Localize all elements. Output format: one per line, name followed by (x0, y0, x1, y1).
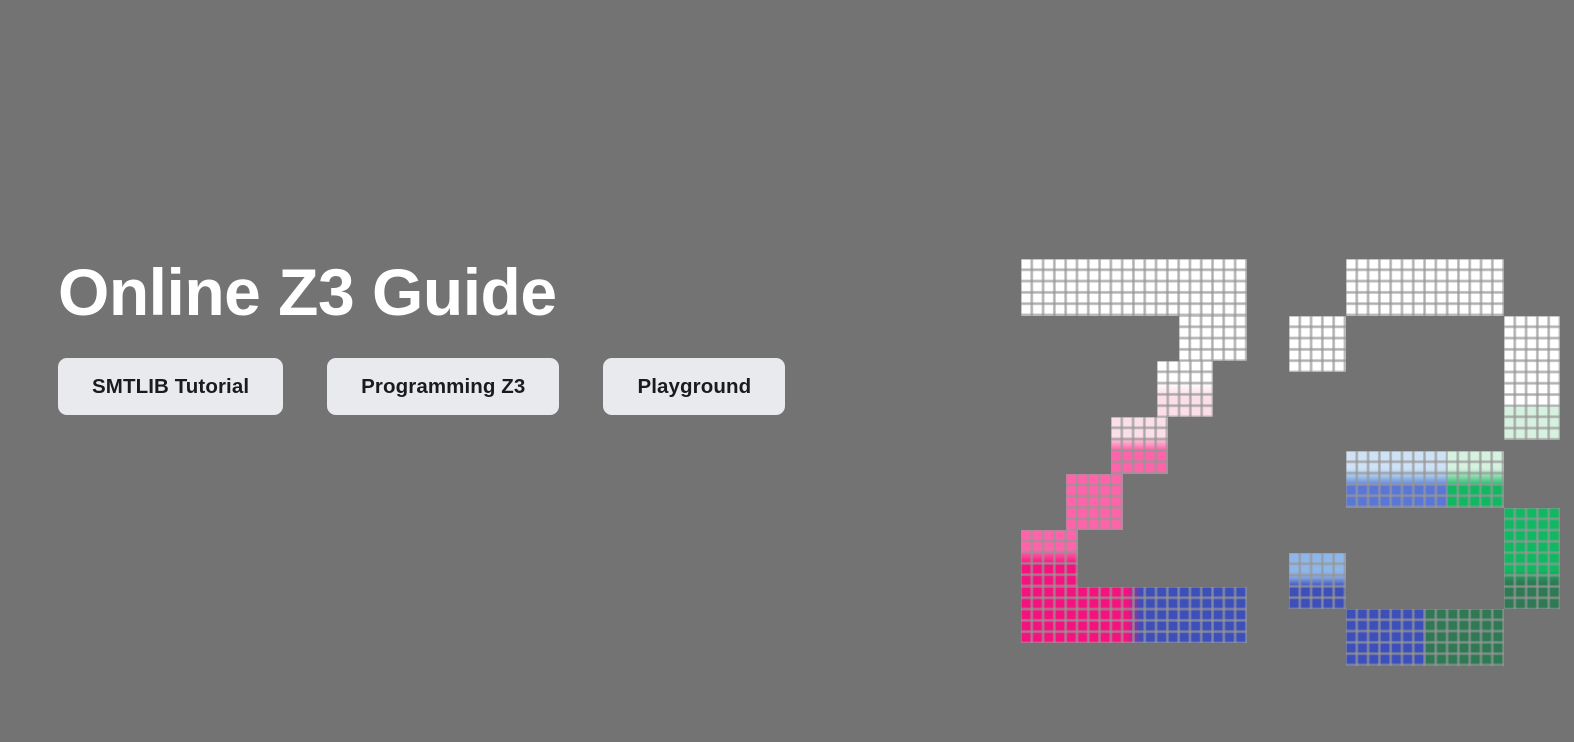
three-lower-right (1504, 508, 1561, 610)
z3-pixel-logo (1021, 259, 1521, 584)
z-top-bar (1021, 259, 1247, 316)
z-bottom-bar (1021, 587, 1247, 644)
z-top-right-stub (1179, 316, 1247, 361)
playground-button[interactable]: Playground (603, 358, 785, 415)
z-step-1 (1157, 361, 1214, 418)
smtlib-tutorial-button[interactable]: SMTLIB Tutorial (58, 358, 283, 415)
z-step-2 (1111, 417, 1168, 474)
cta-button-row: SMTLIB Tutorial Programming Z3 Playgroun… (58, 358, 958, 415)
page-title: Online Z3 Guide (58, 258, 958, 327)
z-step-3 (1066, 474, 1123, 531)
three-bottom-bar-right (1425, 609, 1504, 666)
hero-section: Online Z3 Guide SMTLIB Tutorial Programm… (0, 0, 1574, 742)
three-top-left-stub (1289, 316, 1346, 373)
z-step-4 (1021, 530, 1078, 587)
three-lower-left-stub (1289, 553, 1346, 610)
three-top-bar (1346, 259, 1504, 316)
hero-text-column: Online Z3 Guide SMTLIB Tutorial Programm… (58, 258, 958, 415)
three-bottom-bar-left (1346, 609, 1425, 666)
three-upper-right (1504, 316, 1561, 406)
three-upper-right-tint (1504, 406, 1561, 440)
programming-z3-button[interactable]: Programming Z3 (327, 358, 559, 415)
three-mid-bar-left (1346, 451, 1448, 508)
three-mid-bar-right (1447, 451, 1504, 508)
